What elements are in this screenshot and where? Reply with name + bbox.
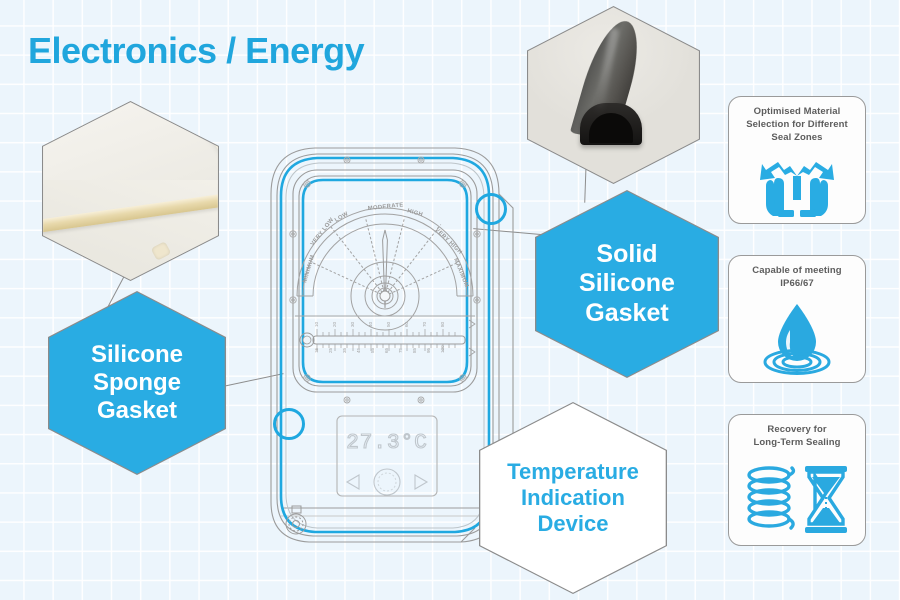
svg-text:85: 85 [412, 347, 417, 353]
recovery-card-text: Recovery for Long-Term Sealing [745, 424, 848, 450]
svg-text:55: 55 [370, 347, 375, 353]
svg-text:LOW: LOW [334, 211, 350, 224]
svg-text:100: 100 [440, 345, 445, 353]
svg-text:45: 45 [356, 347, 361, 353]
svg-text:75: 75 [398, 347, 403, 353]
svg-text:MINIMUM: MINIMUM [302, 254, 316, 283]
svg-text:20: 20 [332, 321, 337, 327]
svg-text:80: 80 [440, 321, 445, 327]
svg-text:VERY HIGH: VERY HIGH [434, 227, 463, 256]
digital-readout: 27.3°C [337, 416, 437, 496]
svg-text:65: 65 [384, 347, 389, 353]
svg-text:60: 60 [404, 321, 409, 327]
infographic-canvas: Electronics / Energy [0, 0, 900, 600]
svg-text:HIGH: HIGH [406, 208, 423, 218]
recovery-card[interactable]: Recovery for Long-Term Sealing [728, 414, 866, 546]
silicone-sponge-gasket-hex[interactable]: Silicone Sponge Gasket [49, 292, 224, 473]
solid-profile-photo [528, 7, 699, 183]
svg-text:25: 25 [328, 347, 333, 353]
svg-text:40: 40 [368, 321, 373, 327]
sponge-gasket-callout-ring [273, 408, 305, 440]
solid-silicone-gasket-label: Solid Silicone Gasket [579, 240, 675, 329]
solid-silicone-gasket-hex[interactable]: Solid Silicone Gasket [536, 191, 717, 376]
svg-text:35: 35 [342, 347, 347, 353]
svg-text:95: 95 [426, 347, 431, 353]
ip-rating-card-text: Capable of meeting IP66/67 [744, 265, 849, 291]
sponge-cord-photo [43, 102, 218, 280]
optimised-material-card-text: Optimised Material Selection for Differe… [738, 106, 856, 144]
solid-gasket-callout-ring [475, 193, 507, 225]
water-droplet-ripple-icon [754, 296, 840, 382]
svg-text:15: 15 [314, 347, 319, 353]
linear-scale: 10 20 30 40 50 60 70 80 15 25 35 45 55 6… [295, 316, 475, 356]
analogue-gauge: MINIMUM VERY LOW LOW MODERATE HIGH VERY … [297, 202, 473, 330]
gauge-needle [380, 230, 390, 308]
ip-rating-card[interactable]: Capable of meeting IP66/67 [728, 255, 866, 383]
page-title: Electronics / Energy [28, 30, 364, 72]
svg-text:30: 30 [350, 321, 355, 327]
svg-text:10: 10 [314, 321, 319, 327]
hands-diverging-arrows-icon [760, 149, 834, 223]
svg-text:50: 50 [386, 321, 391, 327]
silicone-sponge-gasket-label: Silicone Sponge Gasket [91, 341, 183, 426]
svg-text:70: 70 [422, 321, 427, 327]
svg-text:27.3°C: 27.3°C [346, 432, 428, 455]
spring-hourglass-icon [745, 455, 849, 545]
temperature-indication-device-label: Temperature Indication Device [507, 459, 639, 537]
svg-text:MODERATE: MODERATE [368, 202, 404, 212]
optimised-material-card[interactable]: Optimised Material Selection for Differe… [728, 96, 866, 224]
